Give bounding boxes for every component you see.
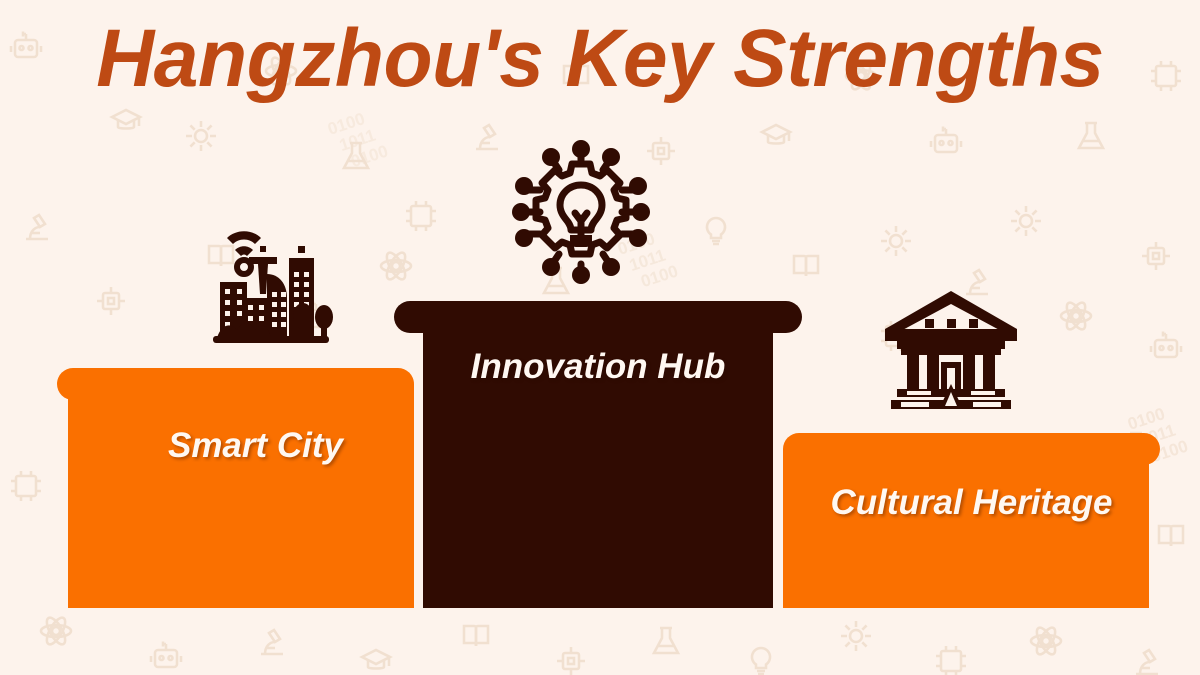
podium-cultural-heritage[interactable]: Cultural Heritage xyxy=(783,433,1160,608)
smart-city-icon xyxy=(205,216,335,346)
podium-smart-city[interactable]: Smart City xyxy=(57,368,414,608)
podium-body-cultural-heritage xyxy=(783,449,1149,608)
heritage-temple-icon xyxy=(881,288,1021,414)
podium-label-cultural-heritage: Cultural Heritage xyxy=(783,483,1178,523)
slide-canvas: 0100 1011 0100 xyxy=(0,0,1200,675)
podium-label-innovation-hub: Innovation Hub xyxy=(394,347,802,387)
podium-innovation-hub[interactable]: Innovation Hub xyxy=(394,301,802,608)
podium-label-smart-city: Smart City xyxy=(57,426,434,466)
innovation-chip-bulb-icon xyxy=(507,138,655,286)
podium-chart: Smart City xyxy=(0,0,1200,675)
podium-body-smart-city xyxy=(68,384,414,608)
